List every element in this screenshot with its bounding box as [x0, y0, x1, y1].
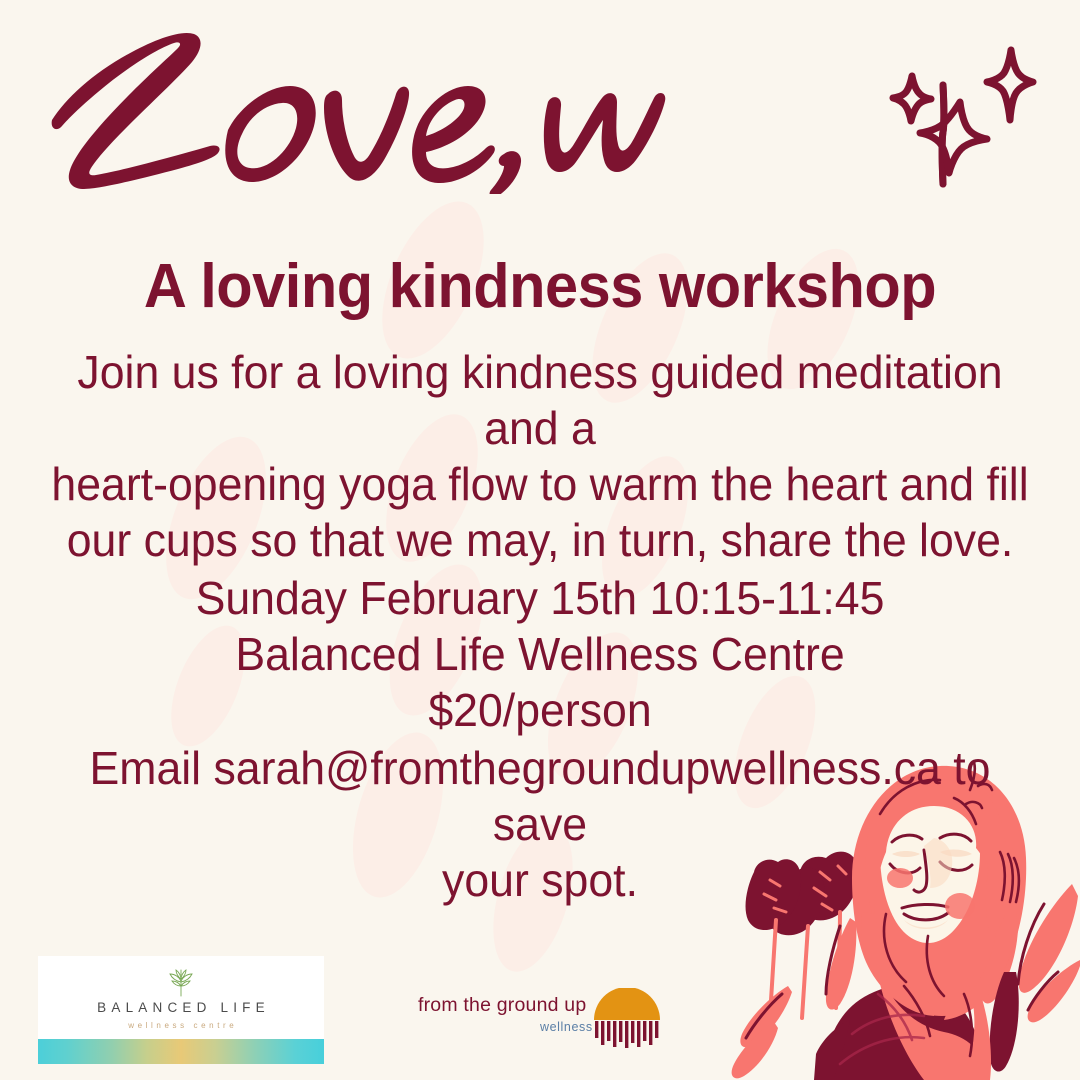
contact-line: Email sarah@fromthegroundupwellness.ca t… [41, 740, 1038, 852]
event-details: Sunday February 15th 10:15-11:45 Balance… [41, 570, 1038, 738]
balanced-life-gradient-bar [38, 1039, 324, 1064]
contact-line: your spot. [41, 852, 1038, 908]
intro-line: heart-opening yoga flow to warm the hear… [41, 456, 1038, 512]
balanced-life-name: BALANCED LIFE [92, 1001, 270, 1015]
balanced-life-logo-inner: BALANCED LIFE wellness centre [38, 956, 324, 1039]
poster-canvas: A loving kindness workshop Join us for a… [0, 0, 1080, 1080]
intro-line: our cups so that we may, in turn, share … [41, 512, 1038, 568]
event-datetime: Sunday February 15th 10:15-11:45 [41, 570, 1038, 626]
event-venue: Balanced Life Wellness Centre [41, 626, 1038, 682]
balanced-life-logo: BALANCED LIFE wellness centre [38, 956, 324, 1064]
sparkle-stars-icon [865, 42, 1045, 222]
contact-info: Email sarah@fromthegroundupwellness.ca t… [41, 740, 1038, 908]
ftgu-subtitle: wellness [540, 1020, 593, 1034]
ftgu-wordmark: from the ground up [418, 994, 586, 1017]
event-price: $20/person [41, 682, 1038, 738]
intro-paragraph: Join us for a loving kindness guided med… [41, 344, 1038, 568]
intro-line: Join us for a loving kindness guided med… [41, 344, 1038, 456]
plant-sprig-icon [166, 969, 196, 997]
script-title [28, 24, 668, 194]
body-copy: Join us for a loving kindness guided med… [41, 344, 1038, 910]
balanced-life-subtitle: wellness centre [125, 1022, 238, 1030]
from-the-ground-up-logo: from the ground up wellness [418, 988, 666, 1050]
sun-rays-icon [588, 988, 666, 1048]
page-title: A loving kindness workshop [22, 256, 1059, 318]
